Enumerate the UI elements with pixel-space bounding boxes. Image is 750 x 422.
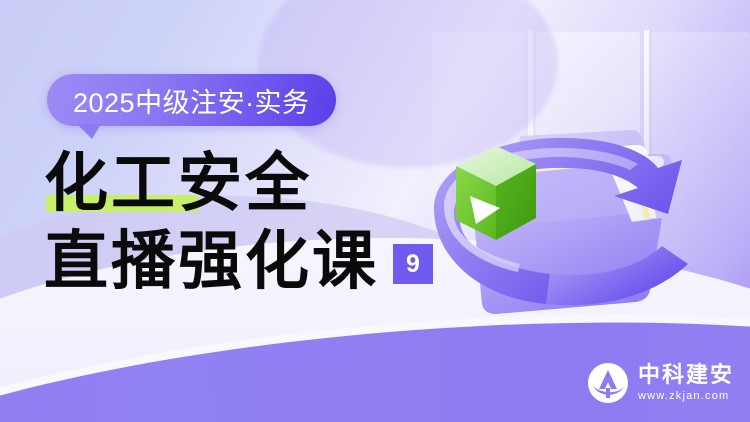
course-category-badge: 2025中级注安·实务 bbox=[47, 74, 336, 126]
headline-block: 化工安全 直播强化课 9 bbox=[44, 152, 464, 294]
course-promo-banner: 2025中级注安·实务 化工安全 直播强化课 9 中科建安 www.zkjan.… bbox=[0, 0, 750, 422]
brand-name: 中科建安 bbox=[638, 363, 734, 387]
headline-line-2-text: 直播强化课 bbox=[44, 230, 379, 294]
headline-line-2: 直播强化课 9 bbox=[44, 230, 464, 294]
circular-mountain-mark-icon bbox=[587, 362, 629, 404]
brand-url: www.zkjan.com bbox=[638, 389, 734, 403]
headline-line-1-text: 化工安全 bbox=[44, 152, 312, 216]
course-category-label: 2025中级注安·实务 bbox=[73, 81, 310, 120]
episode-number-badge: 9 bbox=[393, 244, 433, 284]
headline-line-1: 化工安全 bbox=[44, 152, 464, 216]
brand-text: 中科建安 www.zkjan.com bbox=[638, 363, 734, 403]
brand-logo[interactable]: 中科建安 www.zkjan.com bbox=[587, 362, 734, 404]
